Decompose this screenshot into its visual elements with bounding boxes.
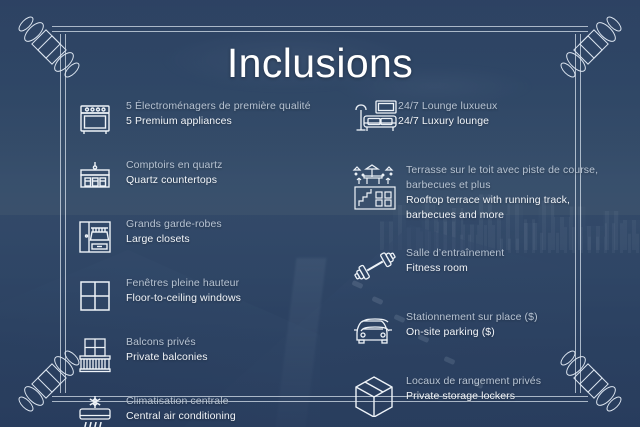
closet-icon [74, 216, 116, 258]
frame-top-line-outer [52, 26, 588, 27]
list-item-text: Balcons privés Private balconies [116, 334, 208, 365]
list-item-text: Locaux de rangement privés Private stora… [400, 373, 541, 404]
list-item-text: Stationnement sur place ($) On-site park… [400, 309, 538, 340]
item-text-fr: 24/7 Lounge luxueux [398, 99, 497, 114]
air-conditioner-icon [74, 393, 116, 427]
frame-left-line-outer [60, 34, 61, 393]
list-item: Grands garde-robes Large closets [74, 216, 334, 258]
list-item: 5 Électroménagers de première qualité 5 … [74, 98, 334, 140]
amenities-column-right: 24/7 Lounge luxueux 24/7 Luxury lounge [350, 98, 600, 415]
kitchen-counter-icon [74, 157, 116, 199]
item-text-fr: 5 Électroménagers de première qualité [126, 99, 311, 114]
balcony-icon [74, 334, 116, 376]
rooftop-terrace-icon [350, 162, 400, 204]
page-title: Inclusions [0, 40, 640, 87]
list-item-text: Grands garde-robes Large closets [116, 216, 222, 247]
item-text-en: Private balconies [126, 350, 208, 365]
item-text-fr: Stationnement sur place ($) [406, 310, 538, 325]
list-item: Comptoirs en quartz Quartz countertops [74, 157, 334, 199]
list-item-text: 5 Électroménagers de première qualité 5 … [116, 98, 311, 129]
window-icon [74, 275, 116, 317]
item-text-fr: Locaux de rangement privés [406, 374, 541, 389]
item-text-en: 5 Premium appliances [126, 114, 311, 129]
car-icon [350, 309, 400, 351]
item-text-en: Quartz countertops [126, 173, 222, 188]
list-item-text: Salle d’entraînement Fitness room [400, 245, 504, 276]
list-item: Locaux de rangement privés Private stora… [350, 373, 600, 415]
list-item: Climatisation centrale Central air condi… [74, 393, 334, 427]
list-item: Salle d’entraînement Fitness room [350, 245, 600, 287]
item-text-en: On-site parking ($) [406, 325, 538, 340]
sofa-lounge-icon [350, 98, 392, 140]
list-item-text: Climatisation centrale Central air condi… [116, 393, 236, 424]
item-text-en: Large closets [126, 232, 222, 247]
list-item: 24/7 Lounge luxueux 24/7 Luxury lounge [350, 98, 600, 140]
item-text-fr: Comptoirs en quartz [126, 158, 222, 173]
list-item-text: 24/7 Lounge luxueux 24/7 Luxury lounge [392, 98, 497, 129]
item-text-en: 24/7 Luxury lounge [398, 114, 497, 129]
item-text-en: Private storage lockers [406, 389, 541, 404]
list-item-text: Terrasse sur le toit avec piste de cours… [400, 162, 600, 223]
storage-box-icon [350, 373, 400, 415]
list-item: Stationnement sur place ($) On-site park… [350, 309, 600, 351]
item-text-fr: Grands garde-robes [126, 217, 222, 232]
frame-top-line-inner [52, 31, 588, 32]
item-text-fr: Terrasse sur le toit avec piste de cours… [406, 163, 600, 193]
list-item: Terrasse sur le toit avec piste de cours… [350, 162, 600, 223]
item-text-en: Central air conditioning [126, 409, 236, 424]
list-item-text: Fenêtres pleine hauteur Floor-to-ceiling… [116, 275, 241, 306]
inclusions-slide: Inclusions 5 Électroménagers de première… [0, 0, 640, 427]
list-item-text: Comptoirs en quartz Quartz countertops [116, 157, 222, 188]
list-item: Fenêtres pleine hauteur Floor-to-ceiling… [74, 275, 334, 317]
dumbbell-icon [350, 245, 400, 287]
item-text-en: Rooftop terrace with running track, barb… [406, 193, 600, 223]
item-text-fr: Climatisation centrale [126, 394, 236, 409]
item-text-fr: Balcons privés [126, 335, 208, 350]
item-text-en: Fitness room [406, 261, 504, 276]
stove-icon [74, 98, 116, 140]
item-text-fr: Salle d’entraînement [406, 246, 504, 261]
item-text-fr: Fenêtres pleine hauteur [126, 276, 241, 291]
list-item: Balcons privés Private balconies [74, 334, 334, 376]
amenities-column-left: 5 Électroménagers de première qualité 5 … [74, 98, 334, 427]
item-text-en: Floor-to-ceiling windows [126, 291, 241, 306]
frame-left-line-inner [65, 34, 66, 393]
